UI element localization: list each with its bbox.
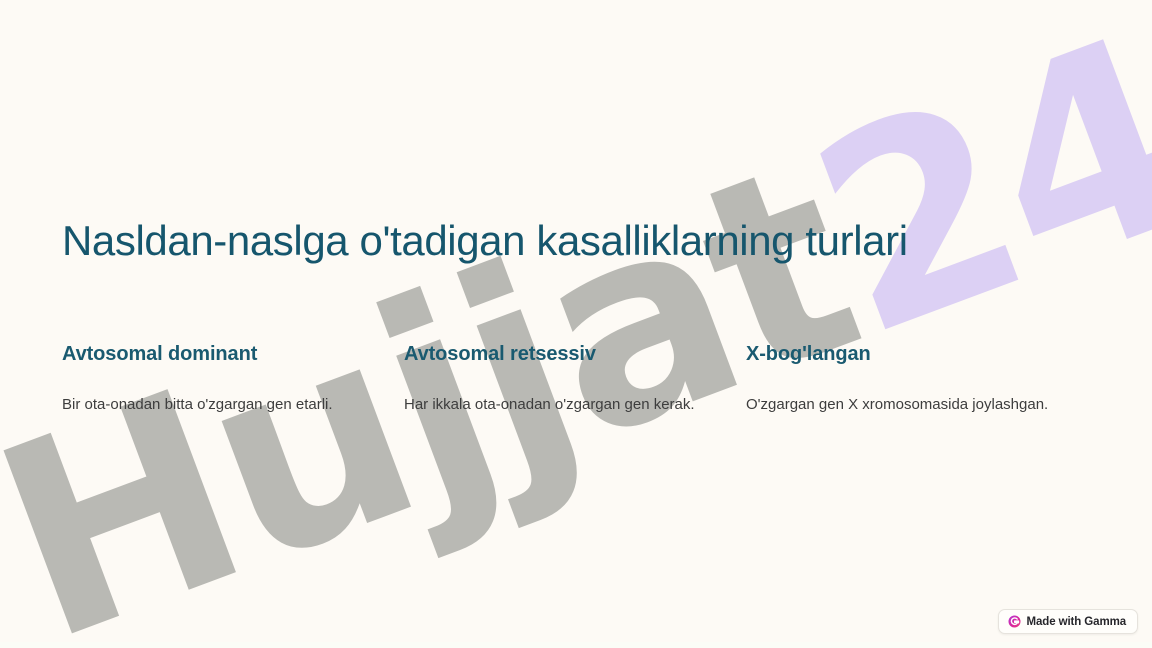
column-body: Har ikkala ota-onadan o'zgargan gen kera… (404, 391, 716, 420)
column-heading: Avtosomal dominant (62, 341, 374, 368)
column-body: Bir ota-onadan bitta o'zgargan gen etarl… (62, 391, 374, 420)
column-body: O'zgargan gen X xromosomasida joylashgan… (746, 391, 1058, 420)
column-avtosomal-retsessiv: Avtosomal retsessiv Har ikkala ota-onada… (404, 341, 746, 420)
gamma-logo-icon (1008, 615, 1021, 628)
bottom-edge-strip (0, 642, 1152, 648)
column-x-boglangan: X-bog'langan O'zgargan gen X xromosomasi… (746, 341, 1088, 420)
column-heading: X-bog'langan (746, 341, 1058, 368)
column-heading: Avtosomal retsessiv (404, 341, 716, 368)
slide-content: Nasldan-naslga o'tadigan kasalliklarning… (0, 0, 1152, 648)
page-title: Nasldan-naslga o'tadigan kasalliklarning… (62, 216, 1092, 266)
made-with-gamma-label: Made with Gamma (1027, 616, 1126, 628)
column-group: Avtosomal dominant Bir ota-onadan bitta … (62, 341, 1090, 420)
slide-canvas: Hujjat24 Nasldan-naslga o'tadigan kasall… (0, 0, 1152, 648)
column-avtosomal-dominant: Avtosomal dominant Bir ota-onadan bitta … (62, 341, 404, 420)
made-with-gamma-badge[interactable]: Made with Gamma (998, 609, 1138, 634)
